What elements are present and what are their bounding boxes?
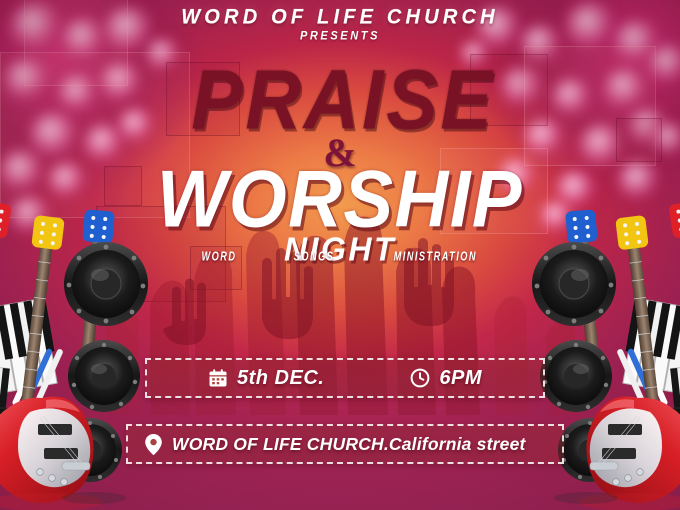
- service-tag: WORD: [201, 251, 236, 265]
- church-name: WORD OF LIFE CHURCH: [0, 5, 680, 29]
- date-time-bar: 5th DEC. 6PM: [145, 358, 545, 398]
- event-title-block: PRAISE & WORSHIP NIGHT: [0, 62, 680, 265]
- poster-canvas: WORD OF LIFE CHURCH PRESENTS PRAISE & WO…: [0, 0, 680, 510]
- date-item: 5th DEC.: [208, 367, 324, 390]
- title-praise: PRAISE: [14, 60, 667, 141]
- title-worship: WORSHIP: [7, 163, 673, 237]
- venue-value: WORD OF LIFE CHURCH.California street: [172, 434, 526, 455]
- time-value: 6PM: [439, 367, 482, 390]
- presents-label: PRESENTS: [0, 29, 680, 42]
- service-tag: SONGS: [293, 251, 334, 265]
- venue-bar: WORD OF LIFE CHURCH.California street: [126, 424, 564, 464]
- venue-item: WORD OF LIFE CHURCH.California street: [144, 433, 526, 456]
- service-tag: MINISTRATION: [393, 251, 476, 265]
- time-item: 6PM: [410, 367, 482, 390]
- location-pin-icon: [144, 433, 163, 456]
- calendar-icon: [208, 368, 228, 388]
- date-value: 5th DEC.: [237, 367, 324, 390]
- service-tags: WORDSONGSMINISTRATION: [0, 252, 680, 263]
- clock-icon: [410, 368, 430, 388]
